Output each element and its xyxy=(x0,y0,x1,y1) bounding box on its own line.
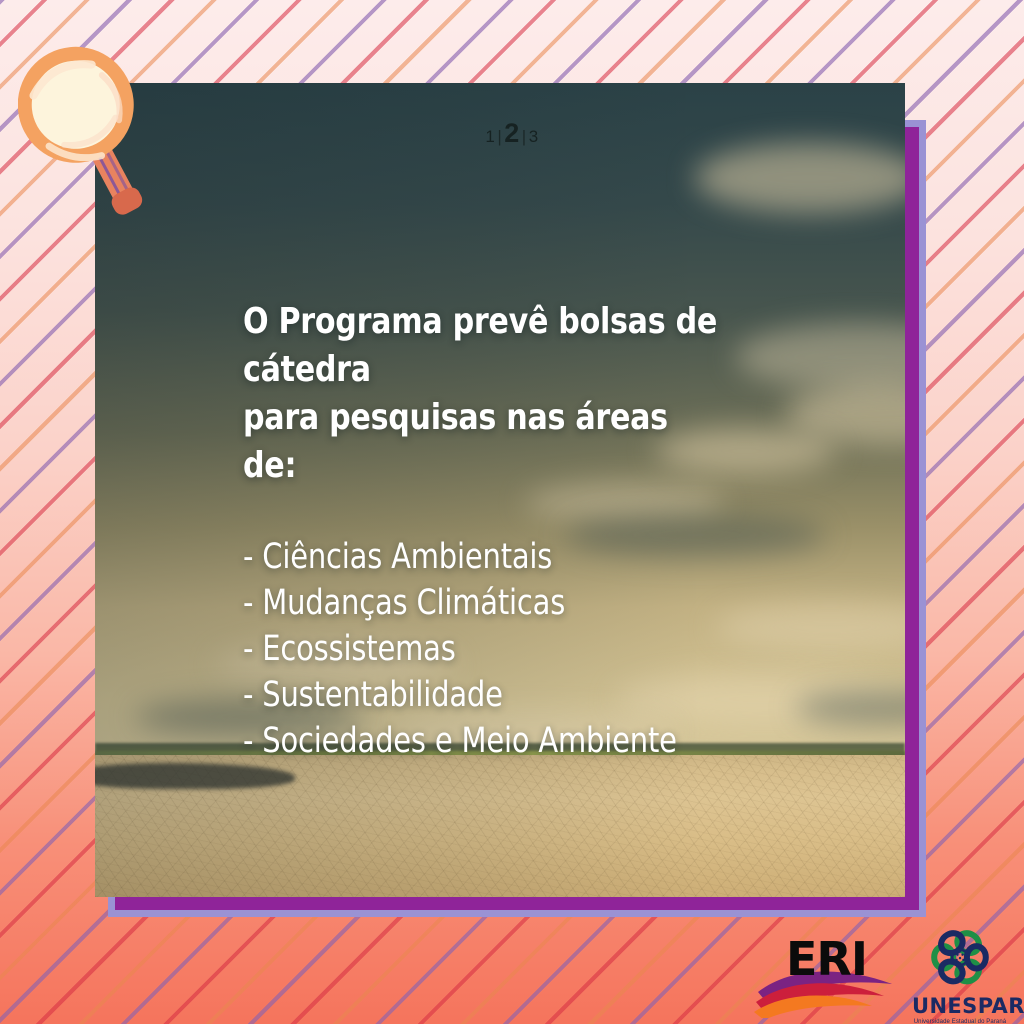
list-item: - Sociedades e Meio Ambiente xyxy=(243,718,721,764)
eri-logo: ERI xyxy=(754,936,894,1018)
pagination-separator: | xyxy=(522,127,527,146)
pagination-page-2-active[interactable]: 2 xyxy=(504,118,520,148)
logo-lockup: ERI xyxy=(754,928,1008,1018)
research-areas-list: - Ciências Ambientais - Mudanças Climáti… xyxy=(243,534,721,765)
headline: O Programa prevê bolsas de cátedra para … xyxy=(243,298,727,490)
list-item: - Mudanças Climáticas xyxy=(243,580,721,626)
headline-line-2: para pesquisas nas áreas de: xyxy=(243,394,727,490)
unespar-wordmark: UNESPAR xyxy=(912,996,1008,1017)
poster-canvas: 1|2|3 O Programa prevê bolsas de cátedra… xyxy=(0,0,1024,1024)
unespar-logo: UNESPAR Universidade Estadual do Paraná xyxy=(912,928,1008,1018)
copy-block: O Programa prevê bolsas de cátedra para … xyxy=(243,298,763,764)
headline-line-1: O Programa prevê bolsas de cátedra xyxy=(243,298,727,394)
pagination-separator: | xyxy=(497,127,502,146)
eri-wordmark: ERI xyxy=(786,936,867,982)
pagination-page-1[interactable]: 1 xyxy=(485,127,495,146)
unespar-tagline: Universidade Estadual do Paraná xyxy=(912,1019,1008,1024)
list-item: - Ecossistemas xyxy=(243,626,721,672)
magnifying-glass-icon xyxy=(18,38,168,228)
flower-emblem-icon xyxy=(917,928,1003,990)
list-item: - Sustentabilidade xyxy=(243,672,721,718)
list-item: - Ciências Ambientais xyxy=(243,534,721,580)
pagination-page-3[interactable]: 3 xyxy=(529,127,539,146)
